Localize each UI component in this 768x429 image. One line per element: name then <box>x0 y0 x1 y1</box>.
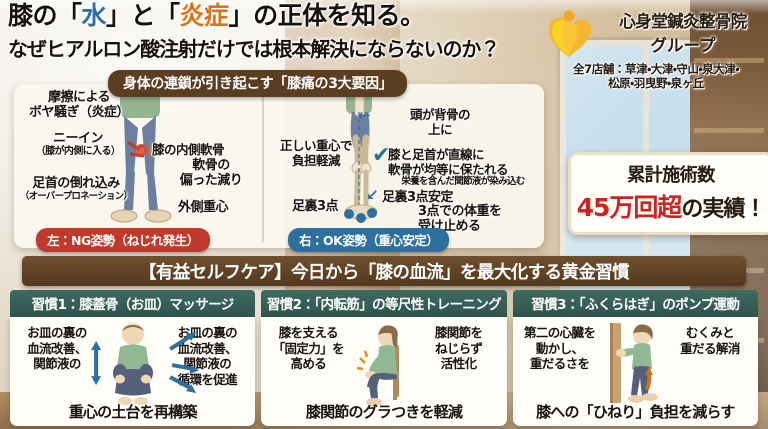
habit-card-1-left-text: お皿の裏の血流改善、関節液の <box>13 325 101 372</box>
seated-person-knees-up-figure <box>96 323 170 407</box>
panel-divider <box>262 92 264 242</box>
habit-card-2[interactable]: 習慣2：「内転筋」の等尺性トレーニング 膝を支える「固定力」を高める 膝関節をね… <box>261 290 506 426</box>
selfcare-banner-text: 【有益セルフケア】今日から「膝の血流」を最大化する黄金習慣 <box>139 259 629 284</box>
label-correct-center: 正しい重心で負担軽減 <box>268 139 364 169</box>
achievement-badge: 累計施術数 45万回超の実績！ <box>568 152 768 235</box>
headline-part-2: 」と「 <box>106 1 180 30</box>
brand-store-list: 全7店舗：草津・大津・守山・泉大津・ 松原・羽曳野・泉ヶ丘 <box>544 62 768 91</box>
infographic-root: 膝の「水」と「炎症」の正体を知る。 なぜヒアルロン酸注射だけでは根本解決にならな… <box>0 0 768 429</box>
label-outer-weight: 外側重心 <box>178 200 262 215</box>
habit-card-2-body: 膝を支える「固定力」を高める 膝関節をねじらず活性化 <box>261 317 506 426</box>
label-cartilage-wear: 軟骨の偏った減り <box>160 158 262 189</box>
badge-number: 45万回超 <box>577 193 682 222</box>
label-ankle-sub: （オーバープロネーション） <box>14 191 138 202</box>
brand-group-label: グループ <box>598 32 768 56</box>
panel-title-pill: 身体の連鎖が引き起こす「膝痛の3大要因」 <box>108 70 407 97</box>
check-mark-icon-straight: ✔ <box>372 145 390 167</box>
person-sitting-on-chair-figure <box>347 323 421 407</box>
heart-person-logo-icon <box>544 4 594 60</box>
badge-value-row: 45万回超の実績！ <box>575 188 767 224</box>
badge-caption: 累計施術数 <box>575 161 767 187</box>
brand-store-line-1: 全7店舗：草津・大津・守山・泉大津・ <box>544 62 768 76</box>
headline-part-1: 膝の「 <box>8 1 82 30</box>
selfcare-banner: 【有益セルフケア】今日から「膝の血流」を最大化する黄金習慣 <box>22 256 746 286</box>
habit-card-1-header: 習慣1：膝蓋骨（お皿）マッサージ <box>10 290 255 317</box>
habit-card-1-right-text: お皿の裏の血流改善、関節液の循環を促進 <box>161 325 253 388</box>
habit-card-3-footer: 膝への「ひねり」負担を減らす <box>513 401 758 422</box>
habit-card-list: 習慣1：膝蓋骨（お皿）マッサージ お皿の裏の血流改善、関節液の お皿の裏の血流改… <box>10 290 758 426</box>
label-sole-three-points: 足裏3点 <box>276 199 354 214</box>
label-ankle-main: 足首の倒れ込み <box>32 176 120 191</box>
label-ankle-collapse: 足首の倒れ込み（オーバープロネーション） <box>14 176 138 203</box>
headline-part-3: 」の正体を知る。 <box>229 1 425 30</box>
habit-card-3-right-text: むくみと重だる解消 <box>664 325 756 356</box>
headline-block: 膝の「水」と「炎症」の正体を知る。 なぜヒアルロン酸注射だけでは根本解決にならな… <box>8 2 548 62</box>
label-knee-ankle-straight: 膝と足首が直線に軟骨が均等に保たれる <box>388 148 540 178</box>
person-standing-wall-calf-raise-figure <box>598 323 672 407</box>
headline-main: 膝の「水」と「炎症」の正体を知る。 <box>8 2 548 30</box>
label-knee-in-main: ニーイン <box>53 131 103 146</box>
label-knee-in: ニーイン（膝が内側に入る） <box>22 131 134 158</box>
brand-block: 心身堂鍼灸整骨院 グループ 全7店舗：草津・大津・守山・泉大津・ 松原・羽曳野・… <box>544 4 768 91</box>
label-joint-fluid: 栄養を含んだ関節液が染み込む <box>386 176 540 187</box>
habit-card-3-body: 第二の心臓を動かし、重だるさを むくみと重だる解消 <box>513 317 758 426</box>
habit-card-2-header: 習慣2：「内転筋」の等尺性トレーニング <box>261 290 506 317</box>
caption-pill-ok: 右：OK姿勢（重心安定） <box>288 228 449 252</box>
headline-keyword-water: 水 <box>82 1 107 30</box>
habit-card-1[interactable]: 習慣1：膝蓋骨（お皿）マッサージ お皿の裏の血流改善、関節液の お皿の裏の血流改… <box>10 290 255 426</box>
habit-card-1-footer: 重心の土台を再構築 <box>10 401 255 422</box>
brand-name: 心身堂鍼灸整骨院 <box>598 8 768 32</box>
caption-pill-ng: 左：NG姿勢（ねじれ発生） <box>36 228 210 252</box>
headline-subtitle: なぜヒアルロン酸注射だけでは根本解決にならないのか？ <box>8 33 548 62</box>
habit-card-1-body: お皿の裏の血流改善、関節液の お皿の裏の血流改善、関節液の循環を促進 <box>10 317 255 426</box>
label-knee-in-sub: （膝が内側に入る） <box>22 146 134 158</box>
habit-card-3[interactable]: 習慣3：「ふくらはぎ」のポンプ運動 第二の心臓を動かし、重だるさを むくみと重だ… <box>513 290 758 426</box>
label-inner-cartilage: 膝の内側軟骨 <box>152 143 262 158</box>
brand-store-line-2: 松原・羽曳野・泉ヶ丘 <box>544 76 768 90</box>
habit-card-2-right-text: 膝関節をねじらず活性化 <box>413 325 505 372</box>
habit-card-2-footer: 膝関節のグラつきを軽減 <box>261 401 506 422</box>
label-head-over-spine: 頭が背骨の上に <box>392 108 488 138</box>
habit-card-2-left-text: 膝を支える「固定力」を高める <box>264 325 352 372</box>
arrow-sole-icon: ↙ <box>366 188 379 203</box>
arrow-head-icon: ← <box>358 108 371 123</box>
habit-card-3-left-text: 第二の心臓を動かし、重だるさを <box>516 325 604 372</box>
headline-keyword-inflammation: 炎症 <box>180 1 229 30</box>
habit-card-3-header: 習慣3：「ふくらはぎ」のポンプ運動 <box>513 290 758 317</box>
badge-number-suffix: の実績！ <box>681 197 765 222</box>
